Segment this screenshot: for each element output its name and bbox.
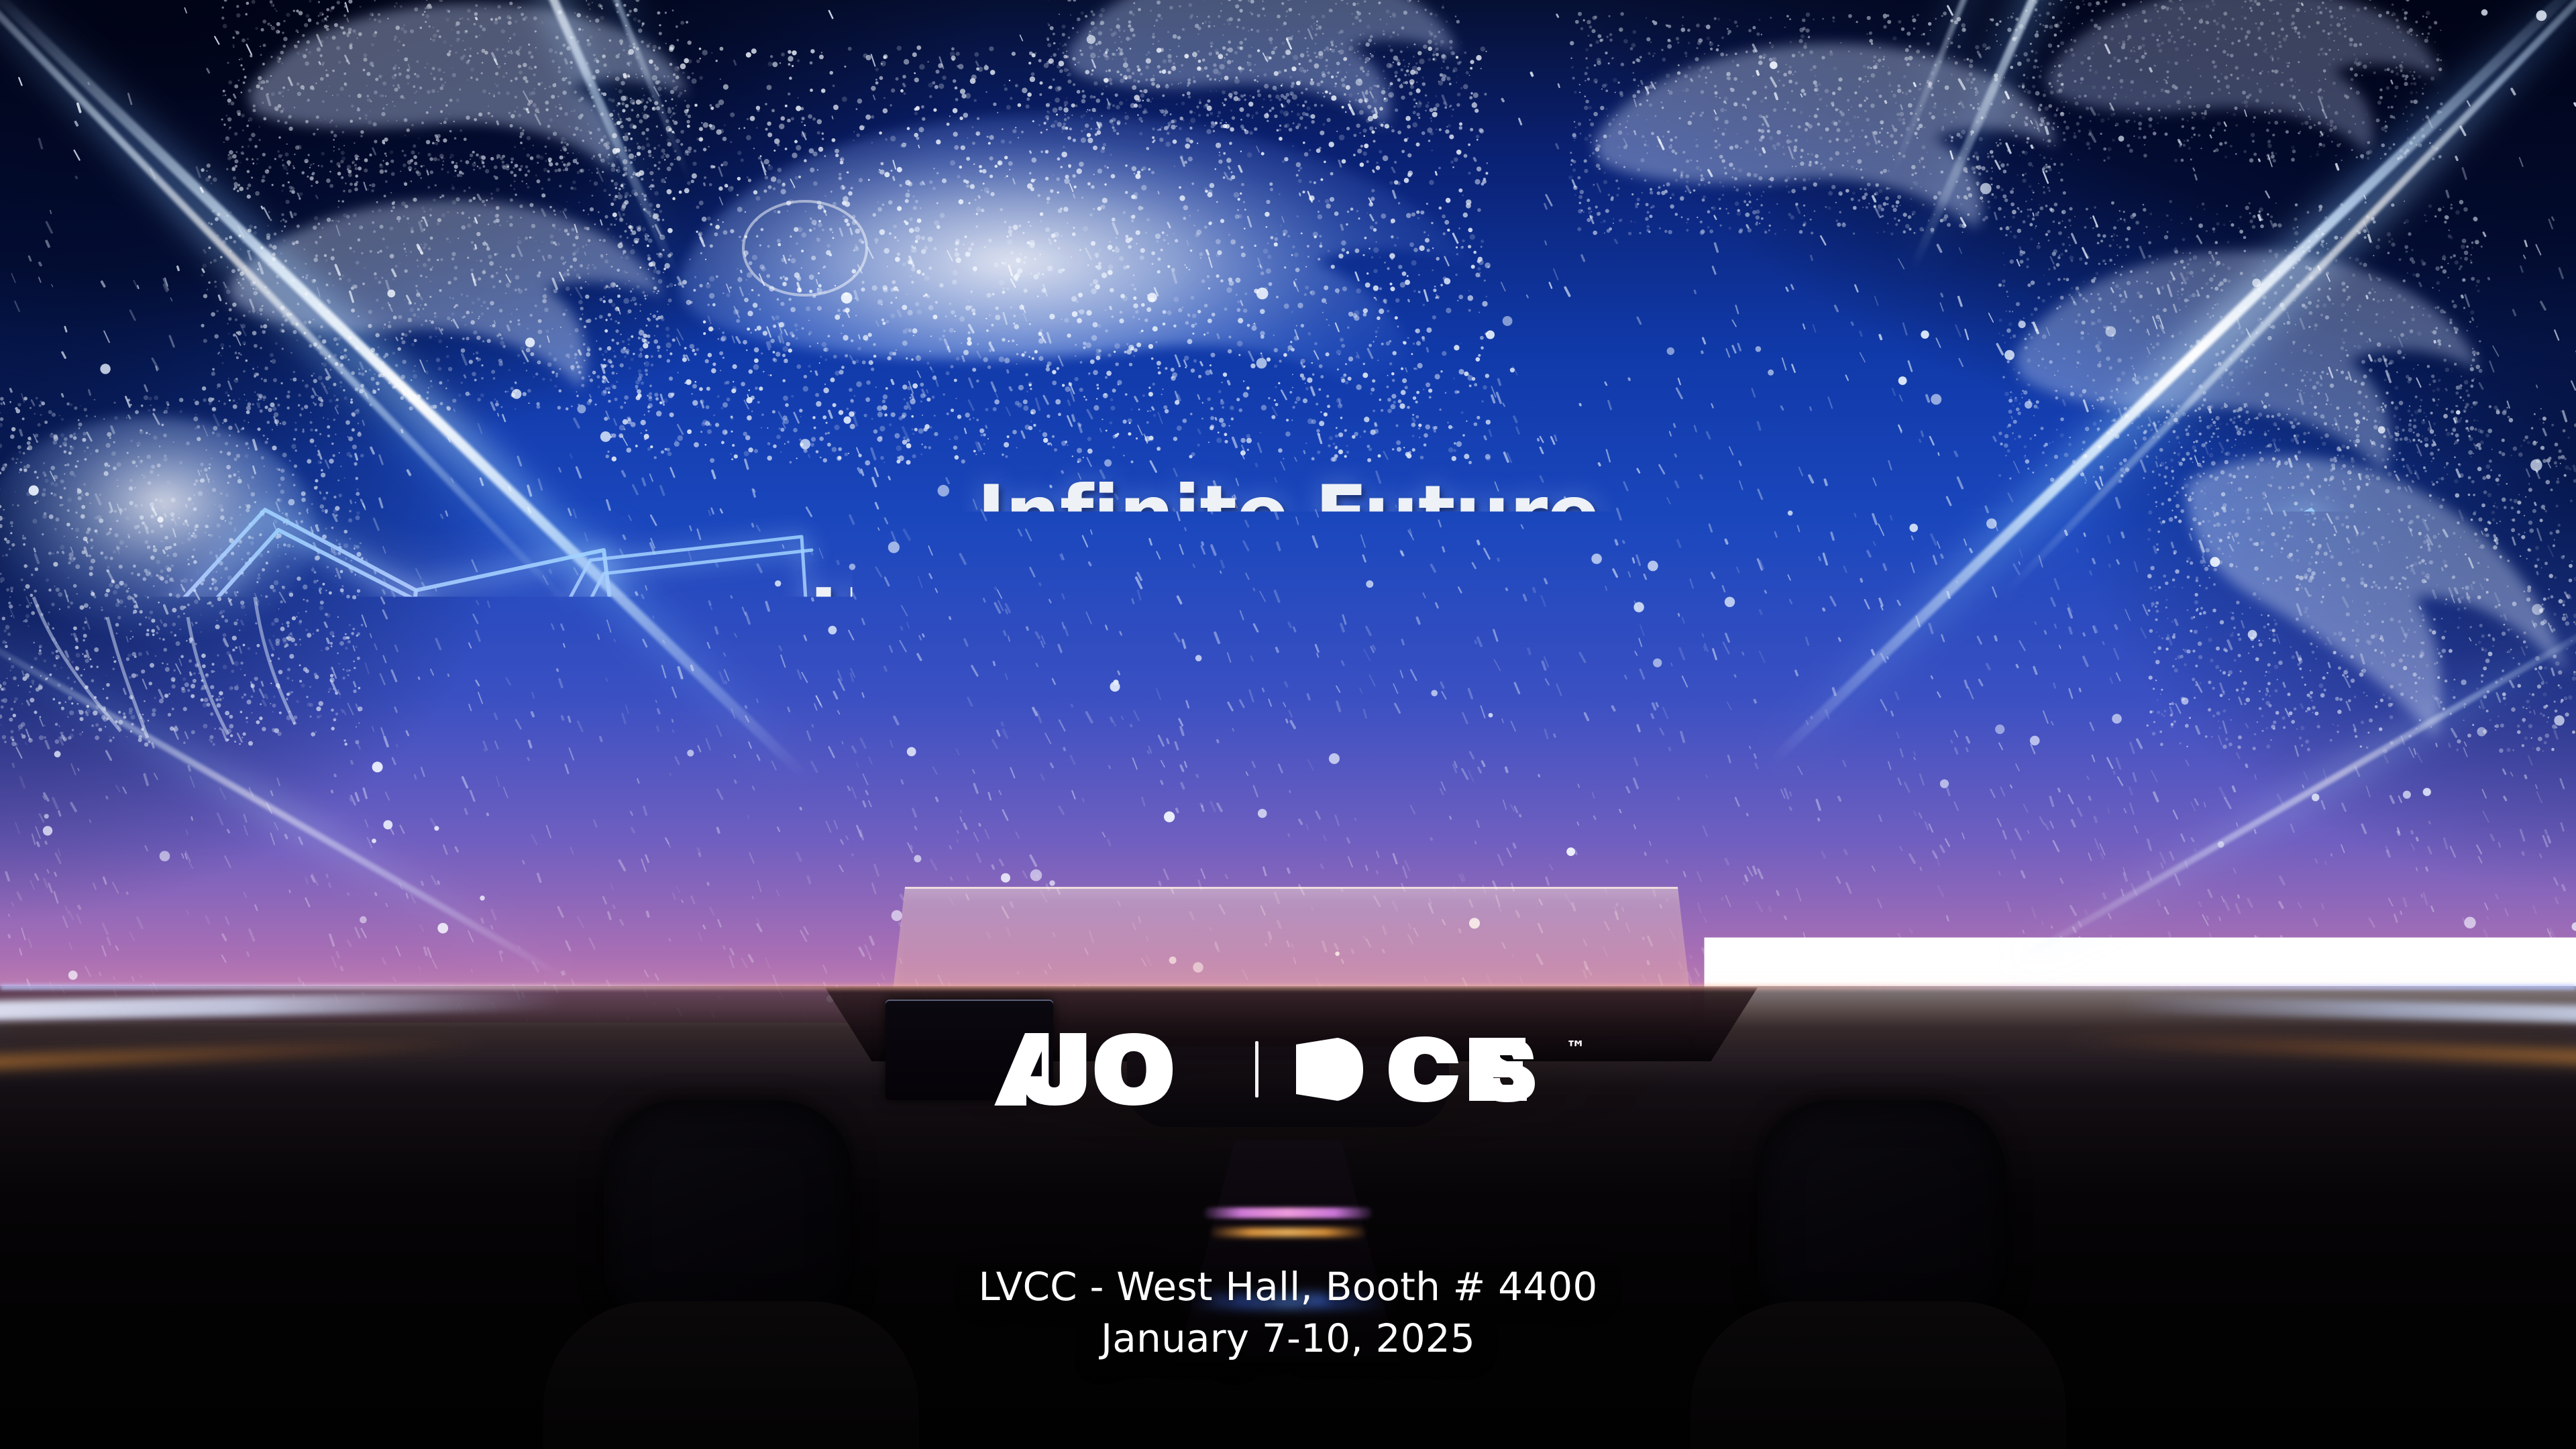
- ces-logo-group: ™: [1293, 1036, 1586, 1102]
- headline-line-1: Infinite Future: [0, 463, 2576, 566]
- console-amber-light: [1211, 1228, 1365, 1237]
- headline-line-2: Unlimited Possibilities: [0, 566, 2576, 669]
- dashboard-rim-light: [0, 985, 2576, 989]
- console-neon-light: [1204, 1207, 1372, 1218]
- page-title: Infinite Future Unlimited Possibilities: [0, 463, 2576, 670]
- auo-wordmark: [990, 1033, 1220, 1106]
- event-details: LVCC - West Hall, Booth # 4400 January 7…: [0, 1261, 2576, 1364]
- dates-text: January 7-10, 2025: [0, 1313, 2576, 1364]
- logo-row: ™: [0, 1033, 2576, 1106]
- ces-wordmark: [1293, 1036, 1562, 1102]
- logo-divider: [1255, 1041, 1258, 1097]
- venue-text: LVCC - West Hall, Booth # 4400: [0, 1261, 2576, 1313]
- trademark-symbol: ™: [1566, 1039, 1586, 1059]
- marketing-banner: Infinite Future Unlimited Possibilities …: [0, 0, 2576, 1449]
